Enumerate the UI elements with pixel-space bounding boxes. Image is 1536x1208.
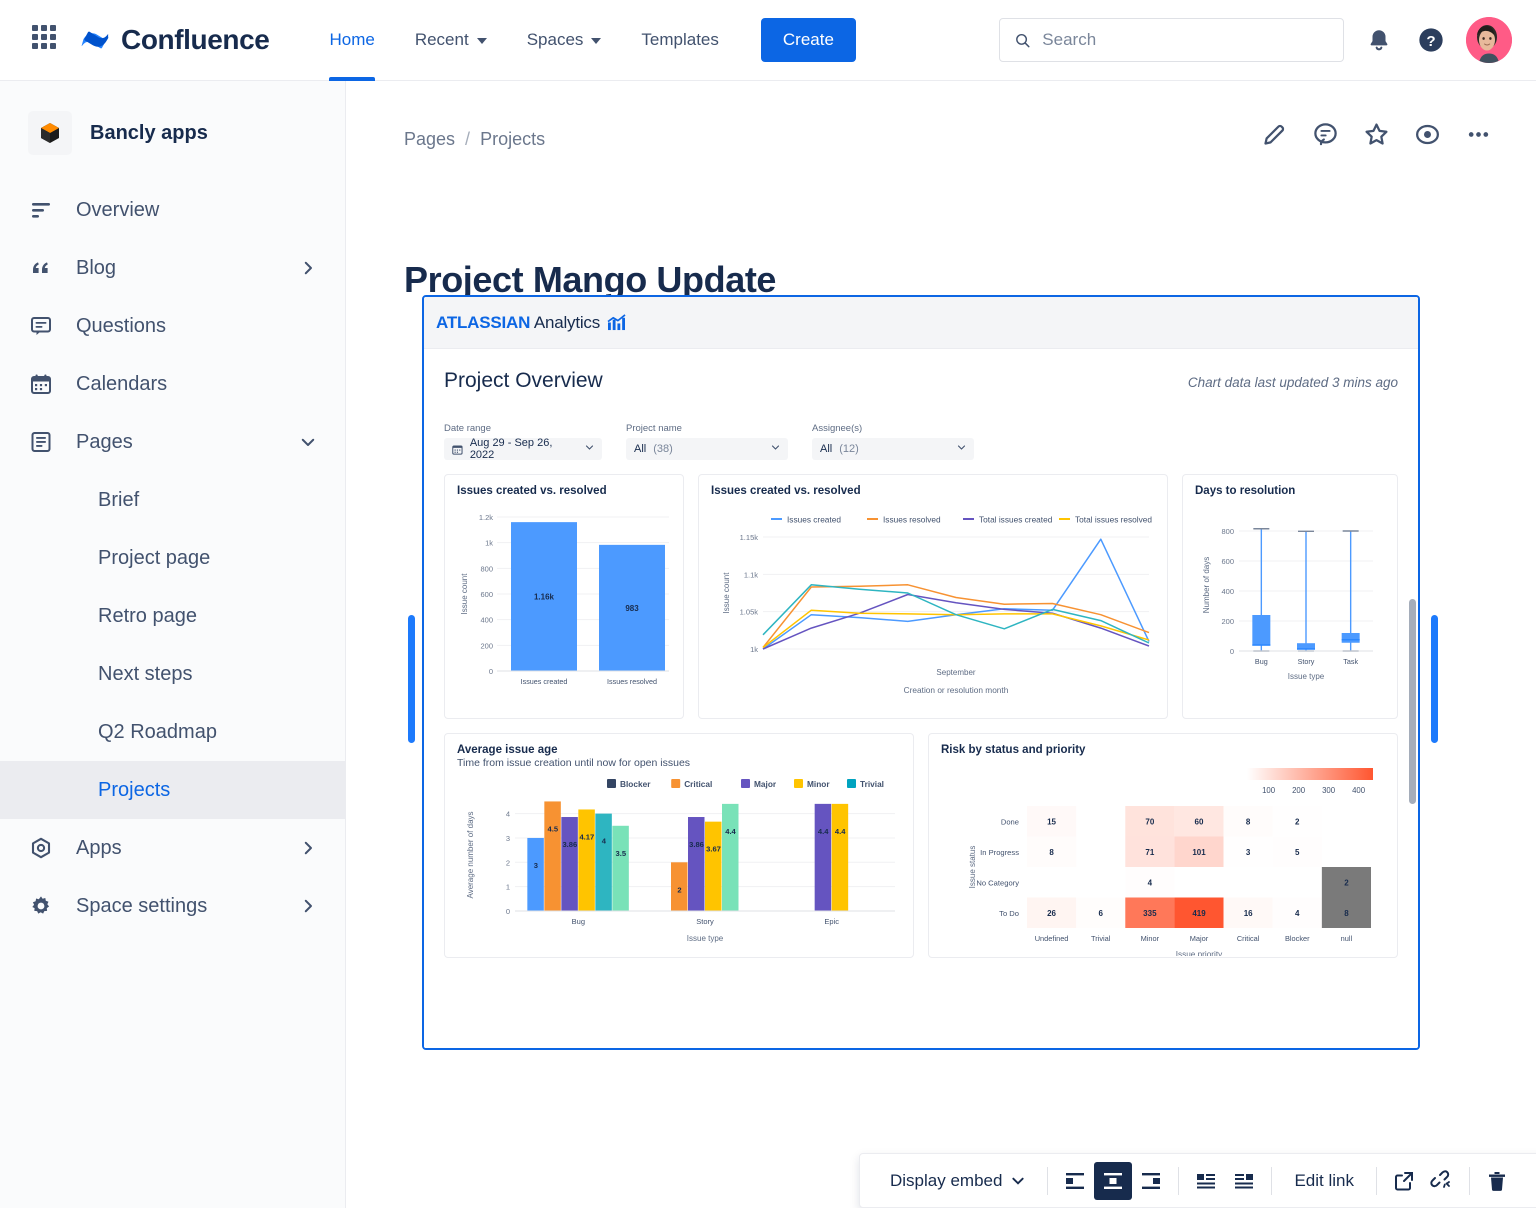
sidebar-subitem-projects[interactable]: Projects: [0, 761, 345, 819]
svg-text:0: 0: [1230, 647, 1234, 656]
svg-text:100: 100: [1262, 786, 1276, 795]
gear-glyph: [29, 894, 53, 918]
svg-text:Total issues resolved: Total issues resolved: [1075, 515, 1152, 525]
display-embed-dropdown[interactable]: Display embed: [876, 1162, 1039, 1200]
svg-text:3.86: 3.86: [689, 840, 704, 849]
svg-text:Critical: Critical: [684, 779, 712, 789]
svg-text:In Progress: In Progress: [980, 848, 1019, 857]
chart-row-top: Issues created vs. resolved 020040060080…: [438, 474, 1404, 719]
svg-text:4.4: 4.4: [835, 827, 846, 836]
quote-icon: [28, 256, 54, 280]
sidebar-label-blog: Blog: [76, 257, 116, 280]
svg-text:Bug: Bug: [572, 917, 585, 926]
card-average-issue-age: Average issue age Time from issue creati…: [444, 733, 914, 958]
svg-text:3: 3: [1246, 848, 1251, 857]
unlink-icon[interactable]: [1423, 1162, 1461, 1200]
svg-text:3.67: 3.67: [706, 845, 721, 854]
search-icon: [1014, 31, 1031, 50]
nav-links: Home Recent Spaces Templates Create: [309, 0, 855, 81]
chevron-right-icon[interactable]: [299, 839, 317, 857]
svg-text:0: 0: [506, 907, 510, 916]
toolbar-divider: [1469, 1167, 1470, 1195]
analytics-embed-card[interactable]: ATLASSIAN Analytics Project Overview Cha…: [422, 295, 1420, 1050]
sidebar-item-space-settings[interactable]: Space settings: [0, 877, 345, 935]
svg-text:200: 200: [480, 641, 493, 650]
svg-text:Minor: Minor: [807, 779, 830, 789]
chart-title-box: Days to resolution: [1195, 485, 1385, 497]
svg-text:4.4: 4.4: [818, 827, 829, 836]
svg-text:Trivial: Trivial: [1091, 934, 1111, 943]
svg-text:8: 8: [1049, 848, 1054, 857]
svg-text:983: 983: [625, 604, 639, 613]
svg-text:600: 600: [480, 590, 493, 599]
svg-text:3.86: 3.86: [562, 840, 577, 849]
svg-text:8: 8: [1344, 909, 1349, 918]
svg-text:Major: Major: [1190, 934, 1209, 943]
chevron-down-icon: [771, 443, 780, 455]
chart-title-bar: Issues created vs. resolved: [457, 485, 671, 497]
nav-label-templates: Templates: [641, 30, 718, 50]
svg-text:800: 800: [1221, 527, 1234, 536]
top-navigation: Confluence Home Recent Spaces Templates …: [0, 0, 1536, 81]
svg-text:Creation or resolution month: Creation or resolution month: [904, 685, 1009, 695]
chart-grouped-bar-avg-age: BlockerCriticalMajorMinorTrivialUndefine…: [457, 771, 903, 956]
dashboard-filters: Date range Aug 29 - Sep: [438, 423, 1404, 460]
edit-link-button[interactable]: Edit link: [1280, 1162, 1368, 1200]
sidebar-sublabel-brief: Brief: [98, 489, 139, 512]
toolbar-divider: [1047, 1167, 1048, 1195]
svg-text:200: 200: [1221, 617, 1234, 626]
filter-control-assignees[interactable]: All (12): [812, 438, 974, 460]
chevron-right-icon[interactable]: [299, 897, 317, 915]
more-ellipsis-icon[interactable]: [1465, 121, 1492, 153]
sidebar-item-pages[interactable]: Pages: [0, 413, 345, 471]
filter-value-project-name: All: [634, 443, 646, 455]
confluence-logo[interactable]: Confluence: [80, 24, 269, 56]
pages-icon: [28, 430, 54, 454]
svg-text:Critical: Critical: [1237, 934, 1260, 943]
filter-count-assignees: (12): [839, 443, 859, 455]
sidebar-label-space-settings: Space settings: [76, 895, 207, 918]
user-avatar[interactable]: [1466, 17, 1512, 63]
space-sidebar: Bancly apps Overview: [0, 81, 346, 1208]
filter-label-project-name: Project name: [626, 423, 788, 434]
analytics-chart-icon: [607, 314, 626, 331]
brand-atlassian: ATLASSIAN: [436, 313, 530, 332]
svg-text:8: 8: [1246, 817, 1251, 826]
calendar-glyph: [29, 372, 53, 396]
bell-glyph: [1366, 27, 1392, 53]
sidebar-sublabel-next-steps: Next steps: [98, 663, 192, 686]
svg-text:Issues created: Issues created: [787, 515, 841, 525]
svg-text:1.2k: 1.2k: [479, 513, 493, 522]
svg-text:600: 600: [1221, 557, 1234, 566]
filter-control-project-name[interactable]: All (38): [626, 438, 788, 460]
svg-text:September: September: [936, 668, 975, 677]
avatar-image: [1466, 17, 1512, 63]
svg-text:Issue type: Issue type: [687, 934, 724, 943]
atlassian-analytics-logo: ATLASSIAN Analytics: [436, 313, 600, 333]
calendar-icon: [28, 372, 54, 396]
space-logo-glyph: [37, 120, 63, 146]
sidebar-item-apps[interactable]: Apps: [0, 819, 345, 877]
sidebar-label-overview: Overview: [76, 199, 159, 222]
filter-label-assignees: Assignee(s): [812, 423, 974, 434]
bell-icon[interactable]: [1362, 23, 1396, 57]
align-right-icon[interactable]: [1132, 1162, 1170, 1200]
breadcrumb-projects[interactable]: Projects: [480, 129, 545, 150]
star-icon[interactable]: [1363, 121, 1390, 153]
filter-assignees: Assignee(s) All (12): [812, 423, 974, 460]
chart-title-line: Issues created vs. resolved: [711, 485, 1155, 497]
brand-analytics: Analytics: [534, 313, 600, 332]
svg-text:4.5: 4.5: [548, 824, 559, 833]
dashboard-scrollbar[interactable]: [1409, 599, 1416, 804]
sidebar-subitem-brief[interactable]: Brief: [0, 471, 345, 529]
card-risk-by-status-and-priority: Risk by status and priority 100200300400…: [928, 733, 1398, 958]
svg-text:Task: Task: [1343, 657, 1358, 666]
svg-text:Epic: Epic: [824, 917, 839, 926]
chevron-down-icon[interactable]: [299, 433, 317, 451]
svg-text:4.17: 4.17: [579, 832, 594, 841]
svg-text:4: 4: [506, 810, 510, 819]
svg-text:16: 16: [1244, 909, 1253, 918]
svg-text:200: 200: [1292, 786, 1306, 795]
embed-product-bar: ATLASSIAN Analytics: [424, 297, 1418, 349]
align-left-icon[interactable]: [1056, 1162, 1094, 1200]
apps-glyph: [29, 836, 53, 860]
sidebar-sublabel-retro-page: Retro page: [98, 605, 197, 628]
sidebar-item-overview[interactable]: Overview: [0, 181, 345, 239]
nav-item-home[interactable]: Home: [309, 0, 394, 81]
svg-text:Average number of days: Average number of days: [466, 811, 475, 898]
wrap-right-icon[interactable]: [1225, 1162, 1263, 1200]
svg-text:null: null: [1341, 934, 1353, 943]
chart-box-days: 0200400600800BugStoryTaskIssue typeNumbe…: [1195, 503, 1395, 708]
svg-text:101: 101: [1192, 848, 1206, 857]
resize-handle-right[interactable]: [1431, 615, 1438, 743]
toolbar-divider: [1376, 1167, 1377, 1195]
svg-text:1.16k: 1.16k: [534, 593, 555, 602]
svg-text:Blocker: Blocker: [1285, 934, 1310, 943]
resize-handle-left[interactable]: [408, 615, 415, 743]
sidebar-sublabel-project-page: Project page: [98, 547, 210, 570]
chart-line-issues: Issues createdIssues resolvedTotal issue…: [711, 501, 1157, 711]
sidebar-label-calendars: Calendars: [76, 373, 167, 396]
sidebar-item-blog[interactable]: Blog: [0, 239, 345, 297]
bancly-space-logo: [28, 111, 72, 155]
chart-row-bottom: Average issue age Time from issue creati…: [438, 733, 1404, 958]
overview-glyph: [29, 198, 53, 222]
chart-heatmap-risk: 100200300400Done15706082In Progress87110…: [941, 758, 1387, 956]
card-issues-created-vs-resolved-line: Issues created vs. resolved Issues creat…: [698, 474, 1168, 719]
filter-project-name: Project name All (38): [626, 423, 788, 460]
svg-text:2: 2: [1295, 817, 1300, 826]
watch-eye-icon[interactable]: [1414, 121, 1441, 153]
chart-title-avg-age: Average issue age: [457, 744, 901, 756]
chevron-down-icon: [477, 38, 487, 44]
sidebar-item-calendars[interactable]: Calendars: [0, 355, 345, 413]
svg-text:Undefined: Undefined: [1035, 934, 1069, 943]
svg-text:1.15k: 1.15k: [740, 533, 759, 542]
chevron-down-icon: [591, 38, 601, 44]
comment-icon[interactable]: [1312, 121, 1339, 153]
breadcrumb: Pages / Projects: [404, 129, 545, 150]
svg-text:Issues resolved: Issues resolved: [883, 515, 941, 525]
svg-text:Issues resolved: Issues resolved: [607, 677, 657, 686]
nav-label-spaces: Spaces: [527, 30, 584, 50]
calendar-icon: [452, 444, 463, 455]
svg-text:2: 2: [677, 885, 681, 894]
svg-text:Number of days: Number of days: [1202, 557, 1211, 613]
svg-text:4.4: 4.4: [725, 827, 736, 836]
page-actions: [1261, 121, 1492, 153]
svg-text:3: 3: [534, 861, 538, 870]
chevron-right-icon[interactable]: [299, 259, 317, 277]
nav-item-recent[interactable]: Recent: [395, 0, 507, 81]
svg-text:800: 800: [480, 564, 493, 573]
open-external-icon[interactable]: [1385, 1162, 1423, 1200]
brand-name: Confluence: [121, 24, 269, 56]
nav-item-spaces[interactable]: Spaces: [507, 0, 622, 81]
svg-text:400: 400: [1352, 786, 1366, 795]
help-glyph: ?: [1417, 26, 1445, 54]
delete-trash-icon[interactable]: [1478, 1162, 1516, 1200]
filter-count-project-name: (38): [653, 443, 673, 455]
svg-text:3: 3: [506, 834, 510, 843]
wrap-left-icon[interactable]: [1187, 1162, 1225, 1200]
svg-text:To Do: To Do: [999, 909, 1019, 918]
confluence-page: Confluence Home Recent Spaces Templates …: [0, 0, 1536, 1208]
svg-text:Done: Done: [1001, 817, 1019, 826]
quote-glyph: [29, 256, 53, 280]
svg-text:6: 6: [1098, 909, 1103, 918]
align-center-icon[interactable]: [1094, 1162, 1132, 1200]
svg-text:1: 1: [506, 883, 510, 892]
page-content: Pages / Projects Project Mango Update: [346, 81, 1536, 1208]
svg-text:400: 400: [1221, 587, 1234, 596]
card-issues-created-vs-resolved-bar: Issues created vs. resolved 020040060080…: [444, 474, 684, 719]
svg-text:2: 2: [1344, 878, 1349, 887]
sidebar-sublabel-projects: Projects: [98, 779, 170, 802]
svg-text:Issue count: Issue count: [460, 573, 469, 615]
nav-label-recent: Recent: [415, 30, 469, 50]
svg-text:Story: Story: [696, 917, 714, 926]
svg-text:Trivial: Trivial: [860, 779, 884, 789]
toolbar-divider: [1271, 1167, 1272, 1195]
sidebar-item-questions[interactable]: Questions: [0, 297, 345, 355]
card-days-to-resolution: Days to resolution 0200400600800BugStory…: [1182, 474, 1398, 719]
search-box[interactable]: [999, 18, 1344, 62]
chart-subtitle-avg-age: Time from issue creation until now for o…: [457, 757, 901, 769]
chart-bar-issues: 02004006008001k1.2k1.16kIssues created98…: [457, 503, 673, 708]
confluence-mark-icon: [80, 25, 110, 55]
display-embed-label: Display embed: [890, 1171, 1002, 1191]
svg-text:Issues created: Issues created: [521, 677, 568, 686]
svg-text:60: 60: [1195, 817, 1204, 826]
svg-text:Issue type: Issue type: [1288, 672, 1325, 681]
dashboard-body: Project Overview Chart data last updated…: [424, 349, 1418, 1050]
space-name: Bancly apps: [90, 122, 208, 145]
embed-toolbar: Display embed Edit link: [859, 1153, 1536, 1208]
chevron-down-icon: [1011, 1174, 1025, 1188]
svg-text:335: 335: [1143, 909, 1157, 918]
comment-glyph: [29, 314, 53, 338]
filter-value-assignees: All: [820, 443, 832, 455]
sidebar-subitem-q2-roadmap[interactable]: Q2 Roadmap: [0, 703, 345, 761]
svg-text:Major: Major: [754, 779, 777, 789]
svg-text:300: 300: [1322, 786, 1336, 795]
sidebar-sublabel-q2-roadmap: Q2 Roadmap: [98, 721, 217, 744]
grid-apps-icon[interactable]: [32, 25, 62, 55]
svg-text:0: 0: [489, 667, 493, 676]
svg-text:1.05k: 1.05k: [740, 608, 759, 617]
filter-value-date-range: Aug 29 - Sep 26, 2022: [470, 437, 578, 461]
svg-text:Issue count: Issue count: [722, 572, 731, 614]
nav-item-templates[interactable]: Templates: [621, 0, 738, 81]
svg-text:4: 4: [1148, 878, 1153, 887]
svg-text:Blocker: Blocker: [620, 779, 651, 789]
toolbar-divider: [1178, 1167, 1179, 1195]
filter-date-range: Date range Aug 29 - Sep: [444, 423, 602, 460]
svg-text:?: ?: [1426, 33, 1435, 50]
svg-text:1k: 1k: [750, 645, 758, 654]
svg-text:400: 400: [480, 616, 493, 625]
svg-text:1k: 1k: [485, 539, 493, 548]
last-updated-text: Chart data last updated 3 mins ago: [1188, 375, 1398, 390]
svg-text:1.1k: 1.1k: [744, 570, 758, 579]
svg-text:No Category: No Category: [976, 878, 1019, 887]
sidebar-nav-list: Overview Blog: [0, 181, 345, 935]
sidebar-label-questions: Questions: [76, 315, 166, 338]
create-button[interactable]: Create: [761, 18, 856, 62]
breadcrumb-pages[interactable]: Pages: [404, 129, 455, 150]
svg-text:3.5: 3.5: [616, 849, 627, 858]
apps-hexagon-icon: [28, 836, 54, 860]
chart-title-heatmap: Risk by status and priority: [941, 744, 1385, 756]
sidebar-subitem-next-steps[interactable]: Next steps: [0, 645, 345, 703]
sidebar-subitem-project-page[interactable]: Project page: [0, 529, 345, 587]
comment-icon: [28, 314, 54, 338]
svg-text:5: 5: [1295, 848, 1300, 857]
space-header[interactable]: Bancly apps: [0, 81, 345, 155]
nav-right-actions: ?: [999, 17, 1512, 63]
svg-text:419: 419: [1192, 909, 1206, 918]
filter-label-date-range: Date range: [444, 423, 602, 434]
chevron-down-icon: [957, 443, 966, 455]
svg-text:70: 70: [1145, 817, 1154, 826]
svg-text:Story: Story: [1298, 657, 1315, 666]
sidebar-label-pages: Pages: [76, 431, 133, 454]
sidebar-label-apps: Apps: [76, 837, 122, 860]
nav-label-home: Home: [329, 30, 374, 50]
chevron-down-icon: [585, 443, 594, 455]
svg-text:Issue priority: Issue priority: [1176, 950, 1223, 956]
search-input[interactable]: [1042, 30, 1329, 50]
dashboard-header: Project Overview Chart data last updated…: [438, 369, 1404, 393]
filter-control-date-range[interactable]: Aug 29 - Sep 26, 2022: [444, 438, 602, 460]
overview-lines-icon: [28, 198, 54, 222]
svg-text:Bug: Bug: [1255, 657, 1268, 666]
breadcrumb-separator: /: [465, 129, 470, 150]
gear-icon: [28, 894, 54, 918]
question-circle-icon[interactable]: ?: [1414, 23, 1448, 57]
svg-text:15: 15: [1047, 817, 1056, 826]
edit-pencil-icon[interactable]: [1261, 121, 1288, 153]
svg-text:4: 4: [1295, 909, 1300, 918]
dashboard-title: Project Overview: [444, 369, 603, 393]
svg-text:Minor: Minor: [1141, 934, 1160, 943]
pages-glyph: [29, 430, 53, 454]
svg-text:2: 2: [506, 858, 510, 867]
svg-text:26: 26: [1047, 909, 1056, 918]
svg-text:Issue status: Issue status: [968, 846, 977, 889]
sidebar-subitem-retro-page[interactable]: Retro page: [0, 587, 345, 645]
svg-text:71: 71: [1145, 848, 1154, 857]
svg-text:Total issues created: Total issues created: [979, 515, 1053, 525]
